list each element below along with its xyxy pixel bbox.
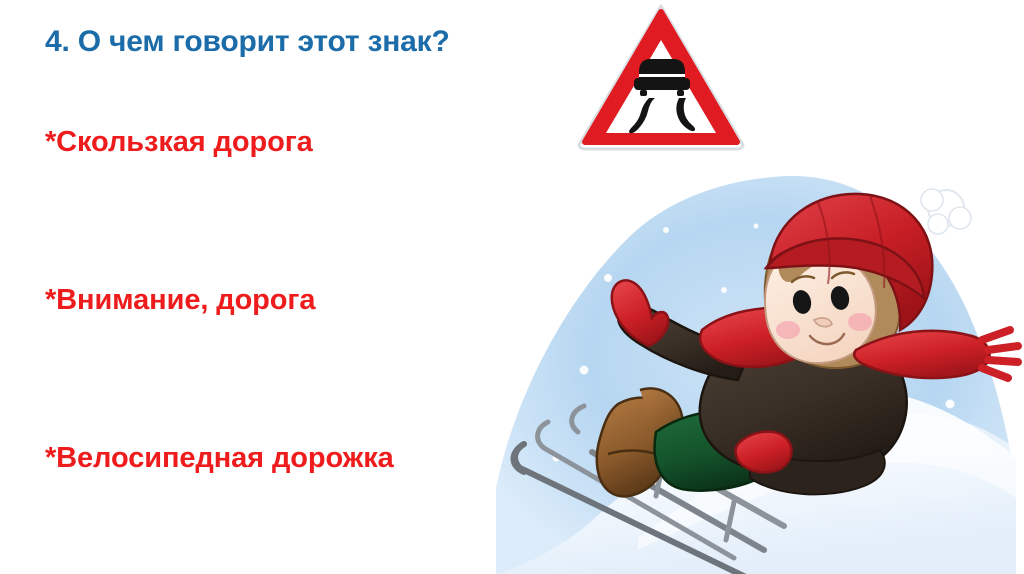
answer-option-3[interactable]: *Велосипедная дорожка: [45, 442, 394, 475]
answer-option-1[interactable]: *Скользкая дорога: [45, 126, 313, 159]
slippery-road-sign-icon: [575, 2, 747, 152]
sledding-child-illustration: [488, 158, 1024, 574]
right-mitten: [736, 432, 792, 473]
hat-pompom: [921, 189, 971, 234]
page-title: 4. О чем говорит этот знак?: [45, 25, 450, 59]
slide-root: 4. О чем говорит этот знак? *Скользкая д…: [0, 0, 1024, 574]
answer-option-2[interactable]: *Внимание, дорога: [45, 284, 315, 317]
